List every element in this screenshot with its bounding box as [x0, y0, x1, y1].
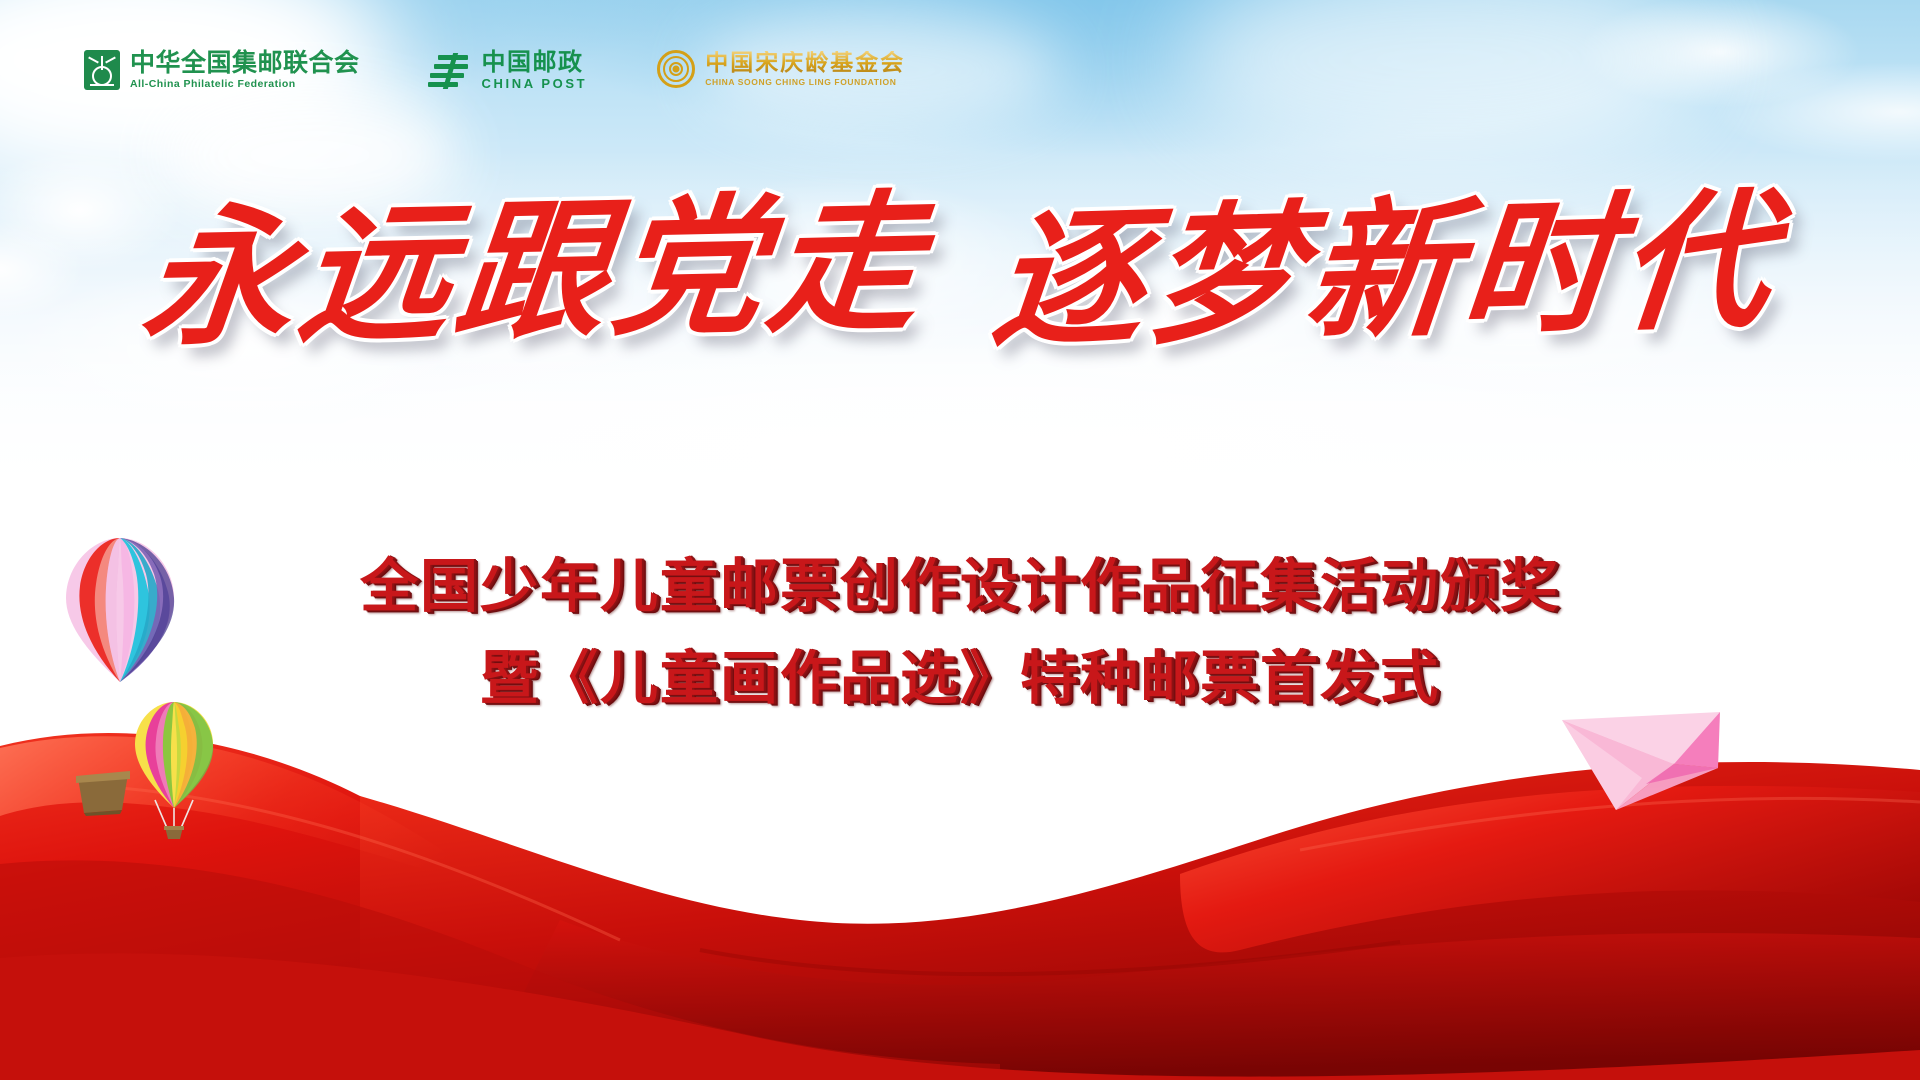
logo-name-cn: 中国邮政 [482, 50, 588, 75]
event-subtitle: 全国少年儿童邮票创作设计作品征集活动颁奖 暨《儿童画作品选》特种邮票首发式 [0, 540, 1920, 724]
headline-phrase-2: 逐梦新时代 [987, 185, 1784, 357]
sponsor-logo-row: 中华全国集邮联合会 All-China Philatelic Federatio… [84, 50, 905, 91]
headline-phrase-1: 永远跟党走 [136, 188, 933, 354]
logo-name-en: All-China Philatelic Federation [130, 78, 360, 90]
logo-all-china-philatelic-federation: 中华全国集邮联合会 All-China Philatelic Federatio… [84, 50, 360, 90]
subtitle-line-2: 暨《儿童画作品选》特种邮票首发式 [0, 632, 1920, 724]
soong-ching-ling-emblem-icon [657, 50, 695, 88]
balloon-basket-icon [72, 770, 134, 821]
logo-name-cn: 中国宋庆龄基金会 [705, 51, 905, 75]
logo-name-en: CHINA POST [482, 76, 588, 91]
logo-name-cn: 中华全国集邮联合会 [130, 50, 360, 76]
logo-china-post: 中国邮政 CHINA POST [428, 50, 588, 91]
logo-china-soong-ching-ling-foundation: 中国宋庆龄基金会 CHINA SOONG CHING LING FOUNDATI… [657, 50, 905, 88]
china-post-emblem-icon [428, 51, 472, 91]
page-title: 永远跟党走 逐梦新时代 [0, 196, 1920, 346]
logo-name-en: CHINA SOONG CHING LING FOUNDATION [705, 77, 905, 87]
poster-canvas: 中华全国集邮联合会 All-China Philatelic Federatio… [0, 0, 1920, 1080]
subtitle-line-1: 全国少年儿童邮票创作设计作品征集活动颁奖 [0, 540, 1920, 632]
philatelic-emblem-icon [84, 50, 120, 90]
